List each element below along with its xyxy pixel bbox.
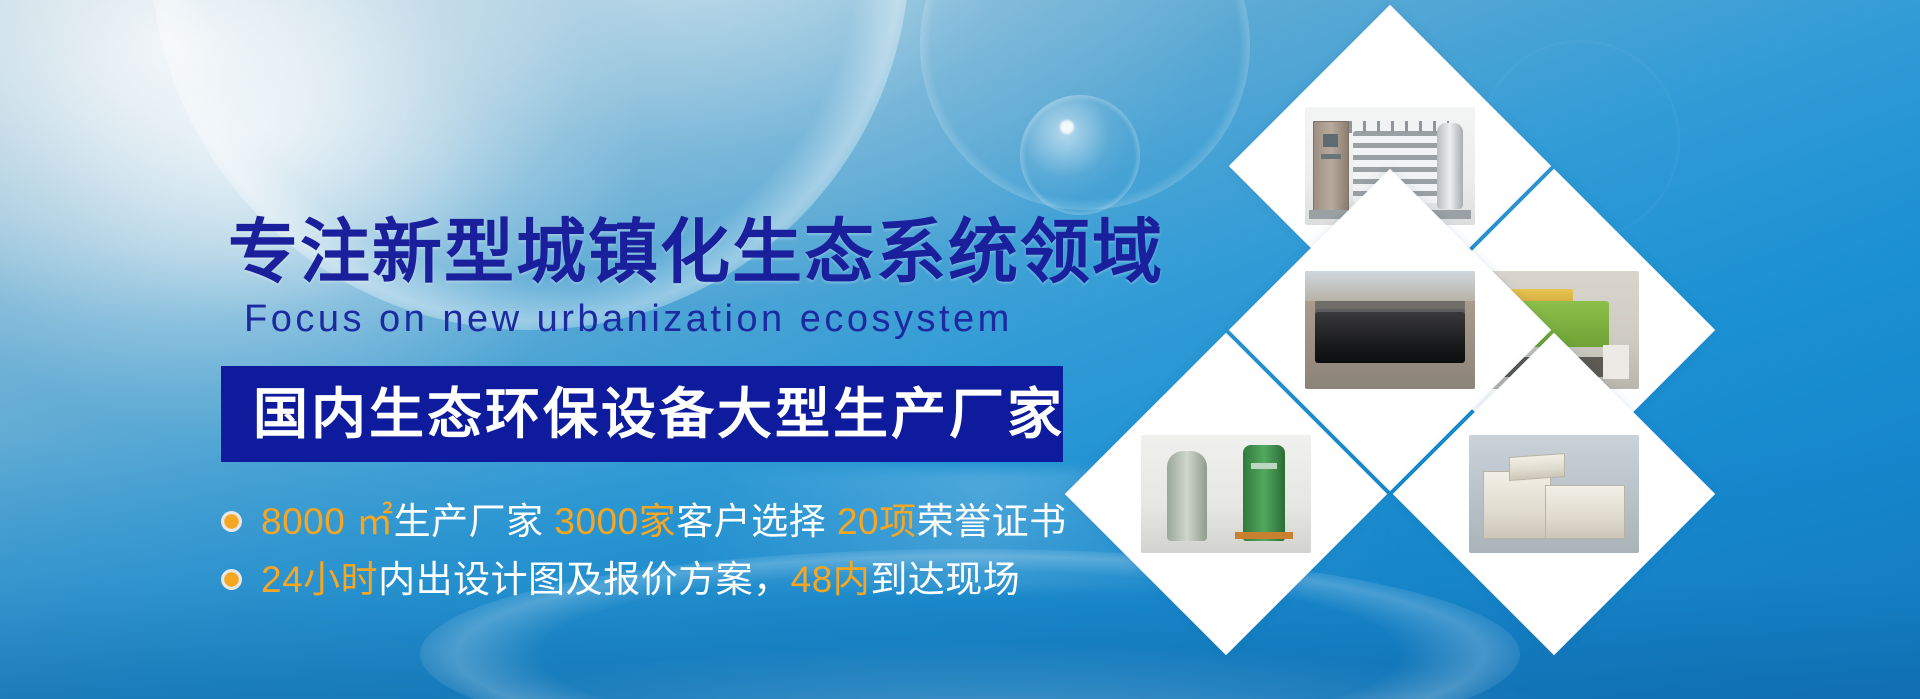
- banner-ribbon: 国内生态环保设备大型生产厂家: [221, 366, 1063, 462]
- bullet-highlight: 20项: [837, 501, 917, 542]
- banner-subheadline: Focus on new urbanization ecosystem: [244, 300, 1013, 338]
- dark-integrated-sewage-tank-photo: [1305, 271, 1475, 389]
- bullet-text: 8000 ㎡生产厂家 3000家客户选择 20项荣誉证书: [261, 503, 1067, 540]
- bullet-plain: 客户选择: [676, 501, 837, 542]
- bullet-plain: 荣誉证书: [917, 501, 1067, 542]
- bullet-text: 24小时内出设计图及报价方案，48内到达现场: [261, 561, 1020, 598]
- bullet-highlight: 8000 ㎡: [261, 501, 394, 542]
- stacked-concrete-blocks-photo: [1469, 435, 1639, 553]
- banner-bullet-list: 8000 ㎡生产厂家 3000家客户选择 20项荣誉证书 24小时内出设计图及报…: [221, 492, 1067, 608]
- bullet-highlight: 48内: [791, 559, 871, 600]
- bullet-plain: 生产厂家: [394, 501, 555, 542]
- copy-block: 专注新型城镇化生态系统领域 Focus on new urbanization …: [0, 0, 1100, 699]
- product-diamond-cluster: [1110, 52, 1670, 612]
- hero-banner: 专注新型城镇化生态系统领域 Focus on new urbanization …: [0, 0, 1920, 699]
- bullet-dot-icon: [221, 511, 242, 532]
- bullet-highlight: 3000家: [554, 501, 676, 542]
- bullet-plain: 内出设计图及报价方案，: [378, 559, 791, 600]
- fiberglass-and-green-pressure-vessels-photo: [1141, 435, 1311, 553]
- bullet-dot-icon: [221, 569, 242, 590]
- banner-headline: 专注新型城镇化生态系统领域: [228, 217, 1164, 287]
- bullet-plain: 到达现场: [870, 559, 1020, 600]
- bullet-item: 8000 ㎡生产厂家 3000家客户选择 20项荣誉证书: [221, 492, 1067, 550]
- banner-ribbon-text: 国内生态环保设备大型生产厂家: [221, 387, 1065, 442]
- bullet-highlight: 24小时: [261, 559, 378, 600]
- bullet-item: 24小时内出设计图及报价方案，48内到达现场: [221, 550, 1067, 608]
